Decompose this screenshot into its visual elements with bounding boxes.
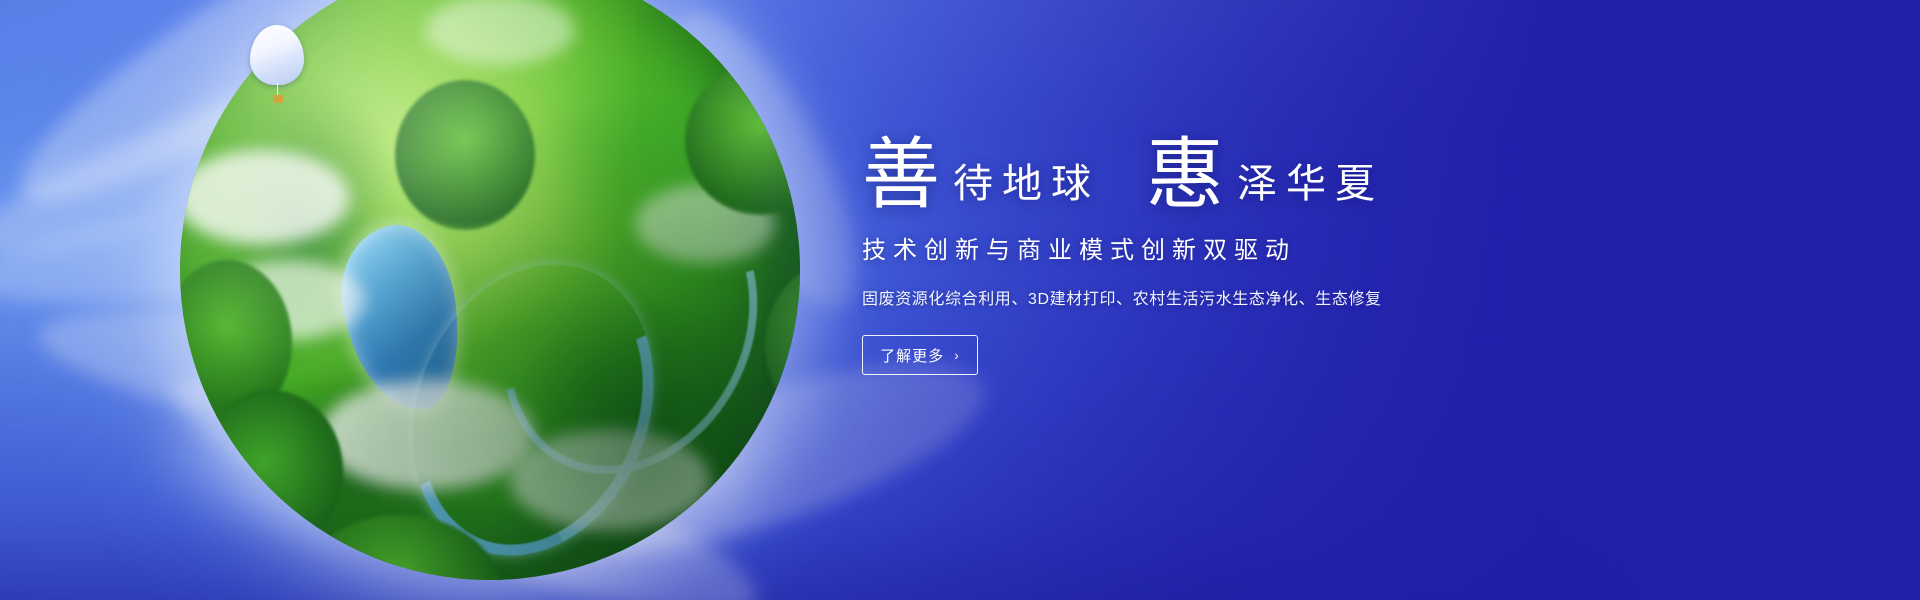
page-title: 善 待地球 惠 泽华夏: [862, 130, 1562, 208]
description-text: 固废资源化综合利用、3D建材打印、农村生活污水生态净化、生态修复: [862, 285, 1562, 309]
hero-banner: 善 待地球 惠 泽华夏 技术创新与商业模式创新双驱动 固废资源化综合利用、3D建…: [0, 0, 1920, 600]
chevron-right-icon: ›: [954, 348, 960, 362]
headline-part1-small: 待地球: [941, 164, 1100, 204]
learn-more-button[interactable]: 了解更多 ›: [862, 335, 978, 375]
headline-part1-large: 善: [862, 136, 941, 214]
headline-part2-small: 泽华夏: [1225, 164, 1384, 204]
hero-copy: 善 待地球 惠 泽华夏 技术创新与商业模式创新双驱动 固废资源化综合利用、3D建…: [862, 130, 1562, 375]
learn-more-label: 了解更多: [880, 345, 944, 366]
headline-part2-large: 惠: [1146, 136, 1225, 214]
subheadline: 技术创新与商业模式创新双驱动: [862, 230, 1562, 265]
